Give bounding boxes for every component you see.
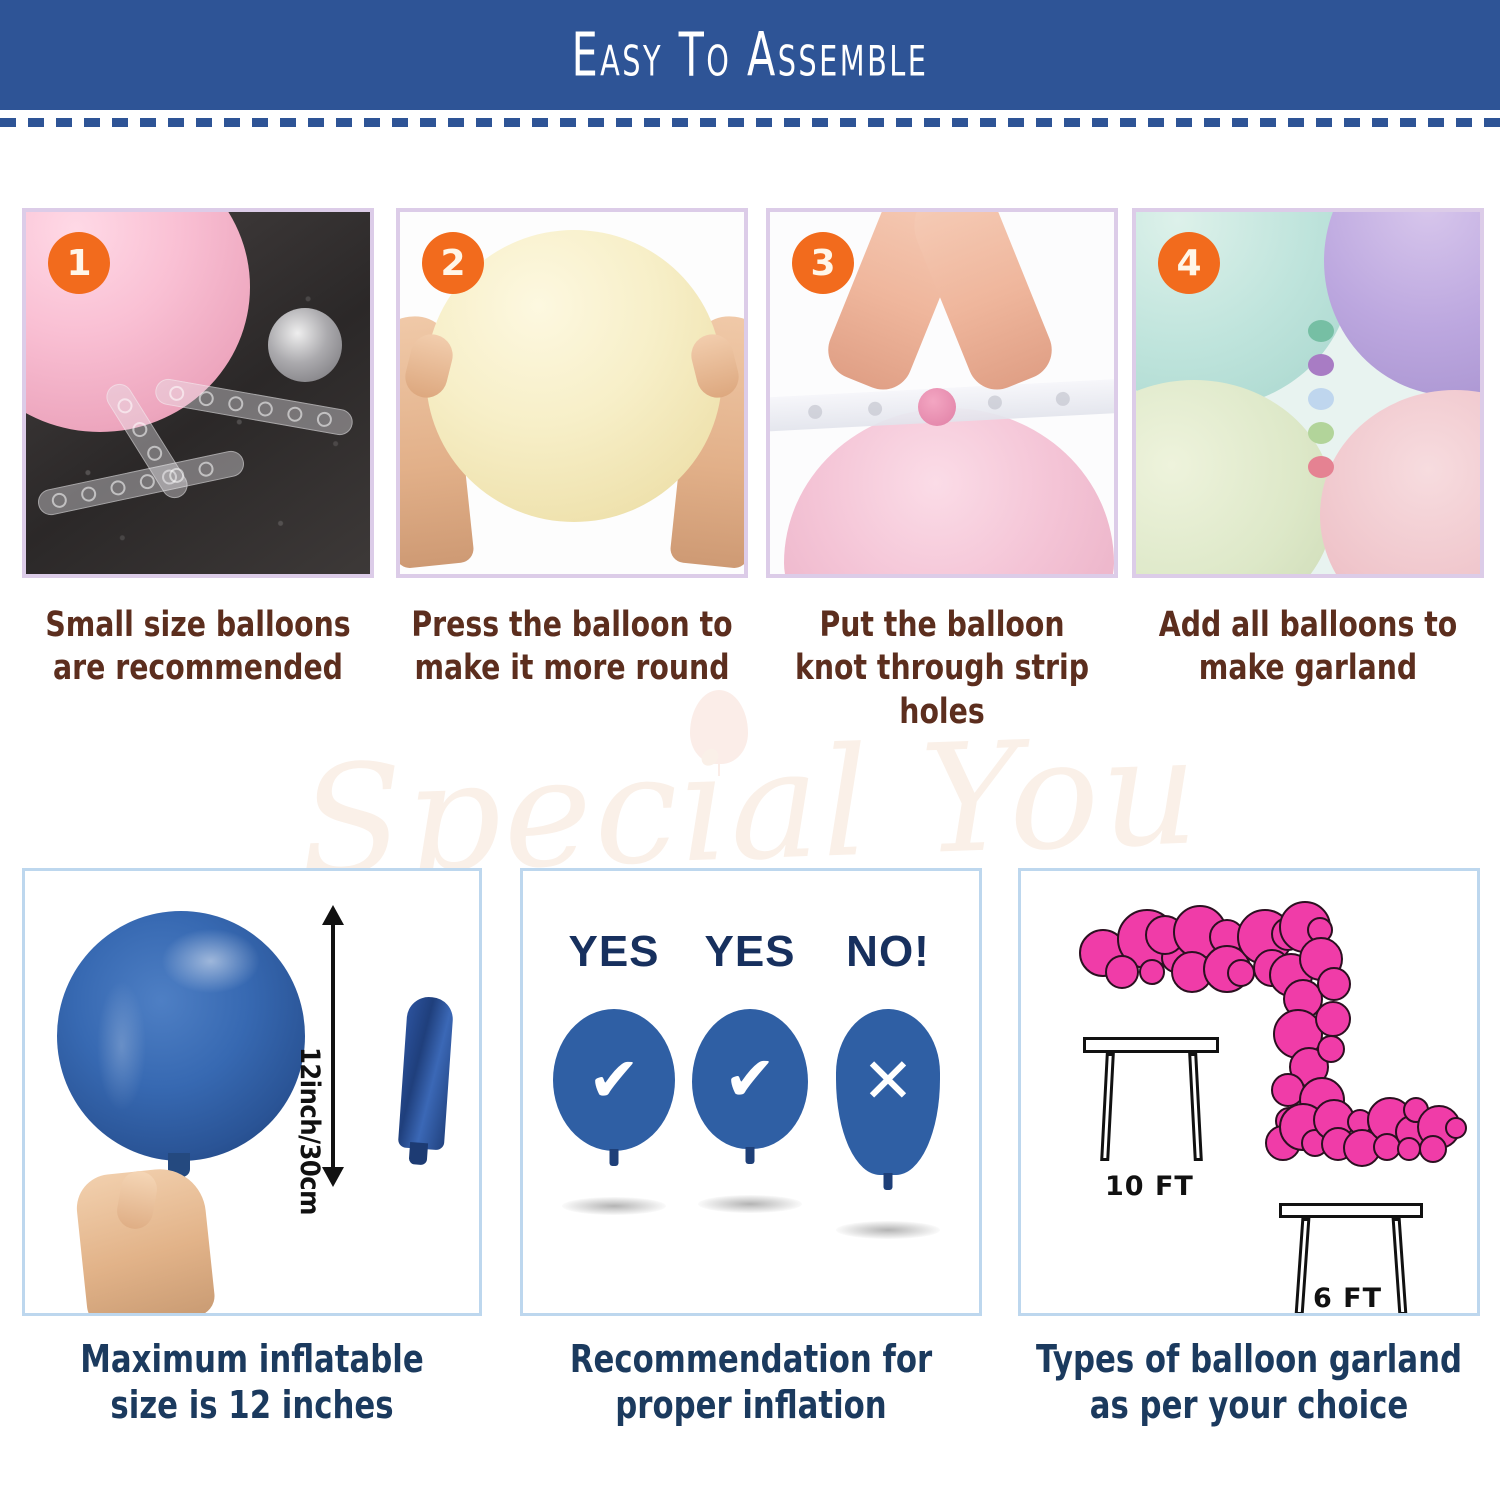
step-4-caption: Add all balloons to make garland	[1146, 604, 1470, 691]
deflated-balloon	[398, 996, 454, 1151]
table-top	[1083, 1037, 1219, 1053]
inflation-option-1-label: YES	[545, 927, 683, 977]
balloon-good-oval: ✔	[553, 1009, 675, 1151]
table-top	[1279, 1203, 1423, 1218]
step-card-1: 1	[22, 208, 374, 578]
balloon-good-round: ✔	[692, 1009, 808, 1149]
cross-icon: ✕	[862, 1050, 914, 1112]
step-number-badge-4: 4	[1158, 232, 1220, 294]
watermark-balloon-icon	[690, 690, 748, 764]
measure-arrow-down-icon	[322, 1167, 344, 1187]
check-icon: ✔	[588, 1049, 640, 1111]
table-leg	[1392, 1218, 1408, 1315]
pink-balloon	[1320, 390, 1480, 574]
step-number-badge-1: 1	[48, 232, 110, 294]
cream-balloon	[1136, 380, 1334, 574]
inflation-option-3-label: NO!	[819, 927, 957, 977]
table-6ft-label: 6 FT	[1313, 1283, 1382, 1314]
balloon-knot	[1308, 422, 1334, 444]
balloon-knot	[1308, 388, 1334, 410]
inflation-option-2-label: YES	[681, 927, 819, 977]
blue-balloon	[57, 911, 305, 1161]
balloon-knot	[1308, 456, 1334, 478]
balloon-knot	[1308, 320, 1334, 342]
header-dashed-divider	[0, 118, 1500, 127]
panel-inflation-caption: Recommendation for proper inflation	[540, 1336, 963, 1429]
panel-garland-caption: Types of balloon garland as per your cho…	[1029, 1336, 1470, 1429]
table-leg	[1100, 1053, 1115, 1161]
balloon-shadow	[562, 1197, 666, 1215]
step-number-badge-3: 3	[792, 232, 854, 294]
pink-balloon	[784, 408, 1114, 574]
inflation-option-3: NO! ✕	[819, 927, 957, 1175]
balloon-knot	[1308, 354, 1334, 376]
step-card-4: 4	[1132, 208, 1484, 578]
inflation-option-1: YES ✔	[545, 927, 683, 1151]
step-2-caption: Press the balloon to make it more round	[410, 604, 734, 691]
measurement-label: 12inch/30cm	[294, 1047, 325, 1215]
table-10ft	[1083, 1037, 1219, 1161]
balloon-shadow	[836, 1221, 940, 1239]
balloon-over-inflated: ✕	[836, 1009, 940, 1175]
panel-max-inflatable-size: 12inch/30cm	[22, 868, 482, 1316]
step-card-2: 2	[396, 208, 748, 578]
check-icon: ✔	[724, 1048, 776, 1110]
step-3-caption: Put the balloon knot through strip holes	[780, 604, 1104, 734]
purple-balloon	[1324, 212, 1480, 396]
page-title: Easy To Assemble	[135, 0, 1365, 114]
watermark: Special You	[0, 690, 1500, 890]
table-leg	[1295, 1218, 1311, 1315]
step-card-3: 3	[766, 208, 1118, 578]
panel-size-caption: Maximum inflatable size is 12 inches	[41, 1336, 462, 1429]
balloon-knot	[918, 388, 956, 426]
table-leg	[1188, 1053, 1203, 1161]
inflation-option-2: YES ✔	[681, 927, 819, 1149]
panel-inflation-recommendation: YES ✔ YES ✔ NO! ✕	[520, 868, 982, 1316]
table-10ft-label: 10 FT	[1105, 1171, 1194, 1202]
clear-balloon-knot	[268, 308, 342, 382]
balloon-shadow	[698, 1195, 802, 1213]
step-1-caption: Small size balloons are recommended	[36, 604, 360, 691]
panel-garland-types: 10 FT 6 FT	[1018, 868, 1480, 1316]
measure-line	[331, 921, 335, 1173]
step-number-badge-2: 2	[422, 232, 484, 294]
